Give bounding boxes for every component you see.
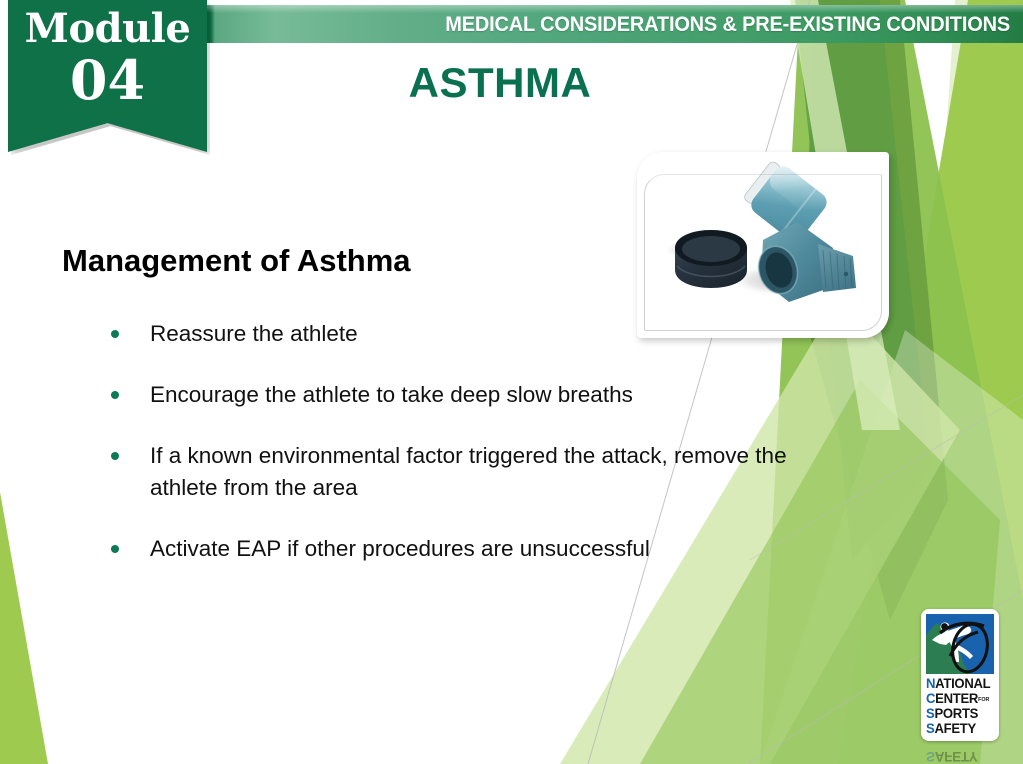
bullet-dot-icon (111, 330, 119, 338)
content-heading: Management of Asthma (62, 240, 411, 282)
decor-shape-bottom-left (0, 492, 48, 764)
bullet-item: Encourage the athlete to take deep slow … (105, 379, 805, 411)
logo-superscript-for: FOR (978, 698, 985, 703)
logo-line-center: CENTERFOR (926, 691, 994, 706)
inhaler-image-card (637, 152, 889, 338)
inhaler-card-inner-border (644, 174, 882, 331)
logo-line-safety: SAFETY (926, 721, 994, 736)
module-ribbon-badge: Module 04 (8, 0, 207, 152)
header-title: MEDICAL CONSIDERATIONS & PRE-EXISTING CO… (262, 5, 1023, 43)
logo-line-national: NATIONAL (926, 676, 994, 691)
bullet-list: Reassure the athlete Encourage the athle… (105, 318, 805, 594)
header-bar: MEDICAL CONSIDERATIONS & PRE-EXISTING CO… (205, 5, 1023, 43)
bullet-dot-icon (111, 391, 119, 399)
logo-line-sports: SPORTS (926, 706, 994, 721)
ncss-logo-reflection: SAFETY (921, 743, 999, 764)
ncss-logo-text: NATIONAL CENTERFOR SPORTS SAFETY (926, 676, 996, 736)
bullet-text: Encourage the athlete to take deep slow … (150, 382, 633, 407)
bullet-dot-icon (111, 452, 119, 460)
logo-reflection-safety: SAFETY (921, 749, 999, 764)
ncss-logo-mark (926, 614, 994, 674)
bullet-text: If a known environmental factor triggere… (150, 443, 787, 500)
bullet-dot-icon (111, 545, 119, 553)
bullet-item: Activate EAP if other procedures are uns… (105, 533, 805, 565)
module-word-label: Module (25, 6, 191, 52)
bullet-item: If a known environmental factor triggere… (105, 440, 805, 504)
module-number-label: 04 (70, 52, 145, 108)
bullet-text: Reassure the athlete (150, 321, 358, 346)
slide-canvas: MEDICAL CONSIDERATIONS & PRE-EXISTING CO… (0, 0, 1023, 764)
bullet-text: Activate EAP if other procedures are uns… (150, 536, 650, 561)
ncss-logo: NATIONAL CENTERFOR SPORTS SAFETY (921, 609, 999, 741)
module-ribbon-content: Module 04 (8, 0, 207, 152)
